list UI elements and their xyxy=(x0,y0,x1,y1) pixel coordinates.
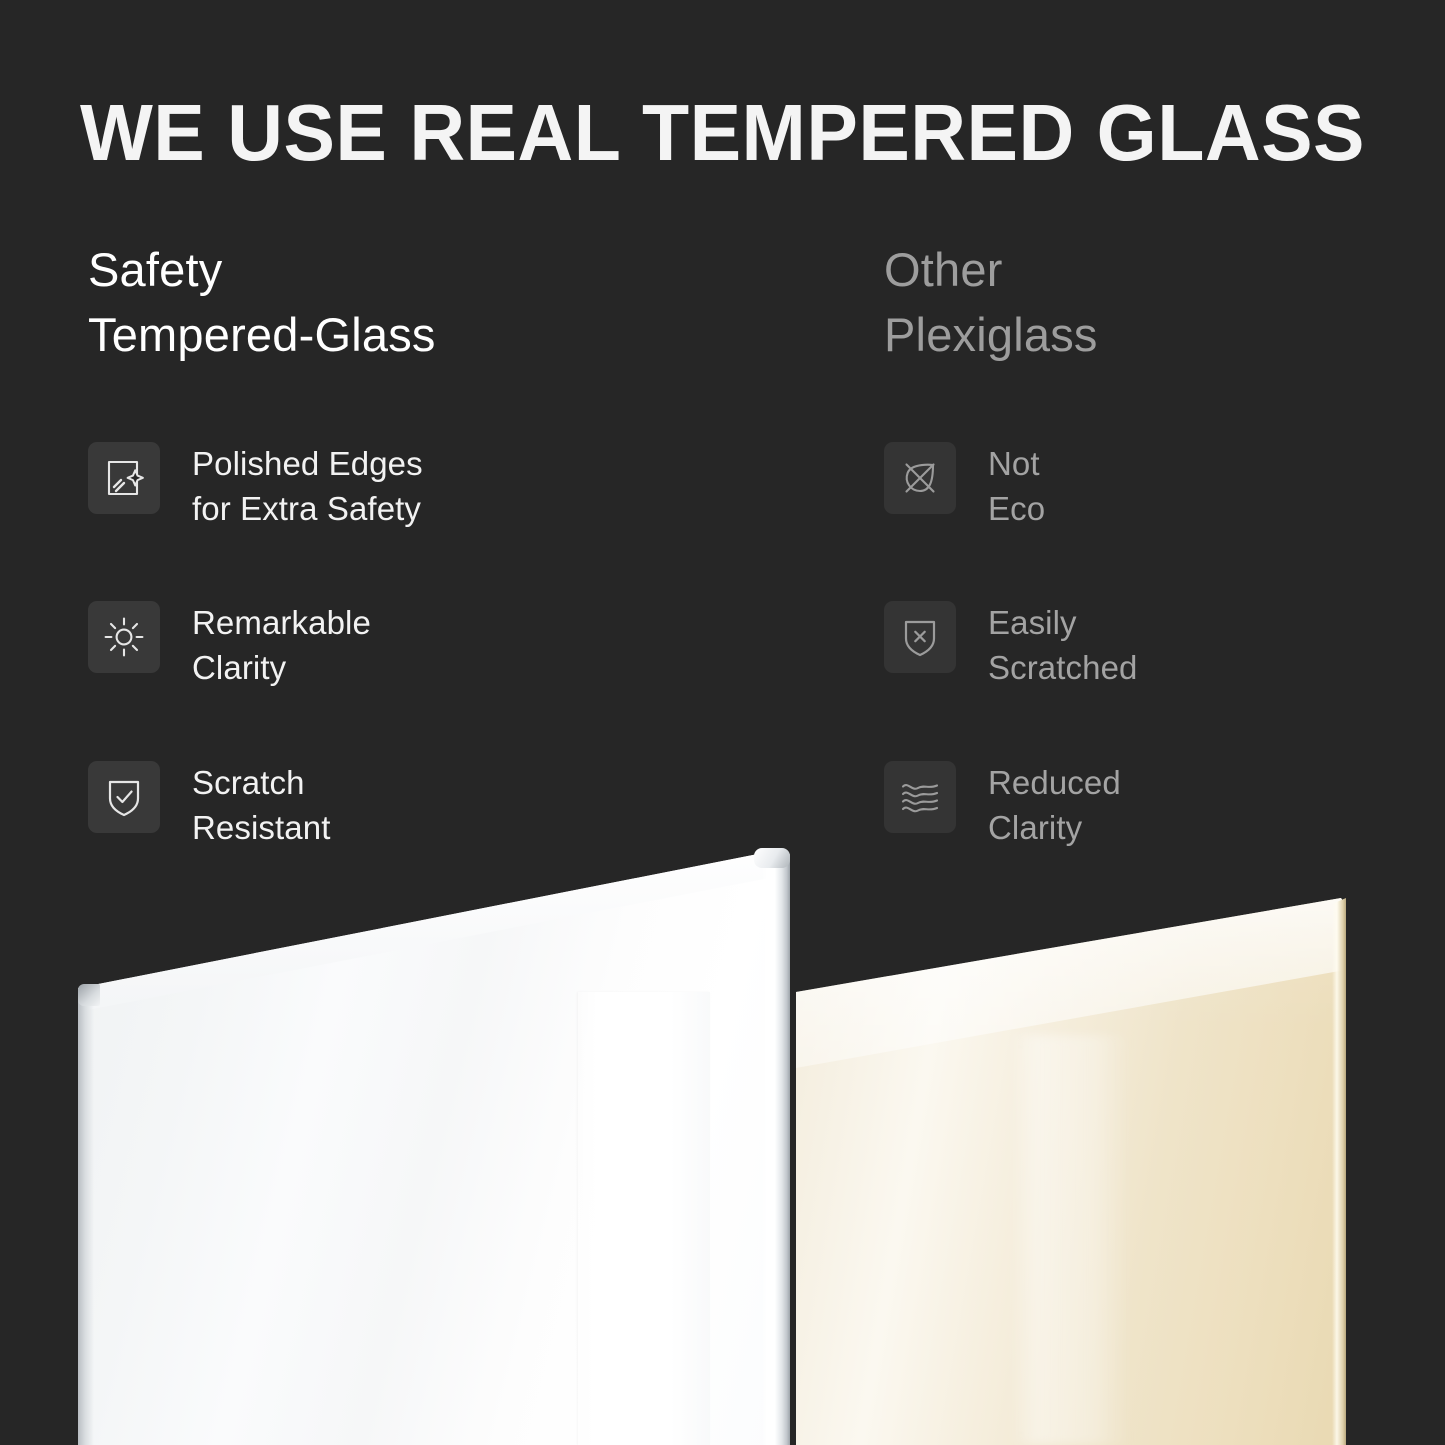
shield-check-icon xyxy=(88,761,160,833)
feature-not-eco: Not Eco xyxy=(884,440,1137,532)
feature-label-polished-edges: Polished Edges for Extra Safety xyxy=(192,440,423,532)
polished-glass-sparkle-icon xyxy=(88,442,160,514)
feature-label-scratch-resistant: Scratch Resistant xyxy=(192,759,330,851)
column-other-plexiglass: Other Plexiglass Not Eco xyxy=(884,238,1137,851)
column-safety-tempered-glass: Safety Tempered-Glass Polished Edges for… xyxy=(88,238,436,851)
shield-x-icon xyxy=(884,601,956,673)
feature-label-easily-scratched: Easily Scratched xyxy=(988,599,1137,691)
feature-scratch-resistant: Scratch Resistant xyxy=(88,759,436,851)
glass-panels-photo xyxy=(0,840,1445,1445)
feature-label-reduced-clarity: Reduced Clarity xyxy=(988,759,1121,851)
wavy-lines-distortion-icon xyxy=(884,761,956,833)
feature-reduced-clarity: Reduced Clarity xyxy=(884,759,1137,851)
feature-polished-edges: Polished Edges for Extra Safety xyxy=(88,440,436,532)
plexiglass-panel xyxy=(796,840,1345,1445)
tempered-glass-panel xyxy=(78,840,790,1445)
feature-list-left: Polished Edges for Extra Safety xyxy=(88,440,436,851)
column-title-safety-tempered-glass: Safety Tempered-Glass xyxy=(88,238,436,368)
feature-list-right: Not Eco Easily Scratched xyxy=(884,440,1137,851)
column-title-other-plexiglass: Other Plexiglass xyxy=(884,238,1137,368)
feature-easily-scratched: Easily Scratched xyxy=(884,599,1137,691)
feature-label-remarkable-clarity: Remarkable Clarity xyxy=(192,599,371,691)
product-comparison-infographic: WE USE REAL TEMPERED GLASS Safety Temper… xyxy=(0,0,1445,1445)
feature-remarkable-clarity: Remarkable Clarity xyxy=(88,599,436,691)
page-title: WE USE REAL TEMPERED GLASS xyxy=(25,90,1419,176)
feature-label-not-eco: Not Eco xyxy=(988,440,1045,532)
leaf-crossed-out-icon xyxy=(884,442,956,514)
sun-brightness-icon xyxy=(88,601,160,673)
